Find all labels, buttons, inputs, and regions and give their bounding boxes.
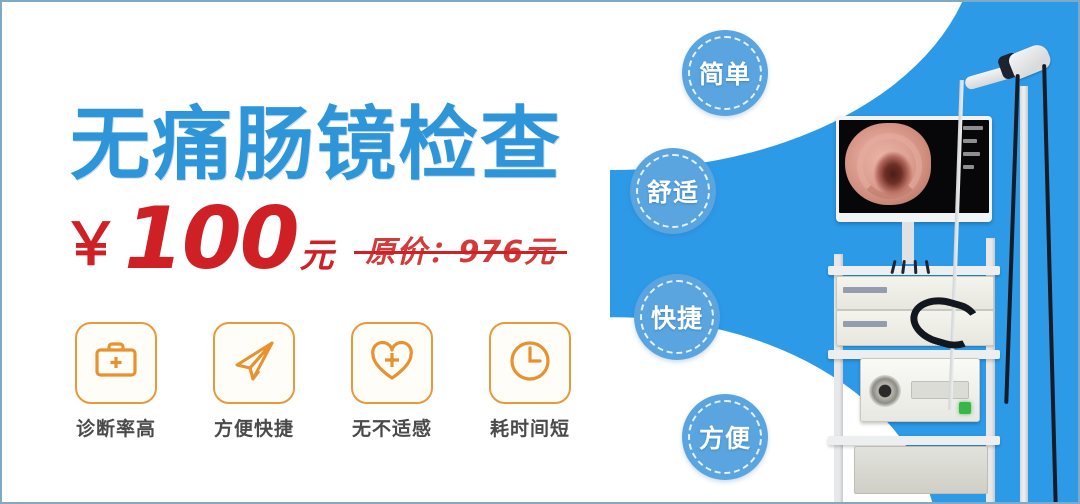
- feature-label: 耗时间短: [490, 414, 570, 441]
- badge-comfortable: 舒适: [630, 148, 716, 234]
- price-unit: 元: [300, 239, 334, 273]
- badge-label: 快捷: [651, 299, 703, 335]
- feature-label: 无不适感: [352, 414, 432, 441]
- unit-branding: [843, 321, 887, 327]
- feature-label: 诊断率高: [76, 414, 156, 441]
- badge-label: 简单: [699, 55, 751, 91]
- bottom-equipment-unit: [854, 446, 988, 494]
- badge-label: 舒适: [647, 173, 699, 209]
- paper-plane-icon: [230, 338, 278, 389]
- feature-icon-box: [213, 322, 295, 404]
- feature-icon-box: [351, 322, 433, 404]
- endoscope-cable-a: [1004, 74, 1020, 404]
- feature-icon-box: [489, 322, 571, 404]
- price-amount: 100: [124, 200, 298, 279]
- medical-kit-icon: [92, 339, 140, 388]
- monitor-stem: [902, 222, 914, 264]
- cart-shelf-bottom: [828, 436, 1000, 445]
- feature-list: 诊断率高 方便快捷: [68, 322, 578, 441]
- unit-branding: [843, 287, 887, 293]
- endoscopy-monitor: [836, 116, 992, 222]
- monitor-hud: [963, 126, 983, 169]
- original-price: 原价：976元: [366, 227, 556, 271]
- badge-simple: 简单: [682, 30, 768, 116]
- monitor-screen: [839, 120, 989, 213]
- feature-item-diagnosis: 诊断率高: [68, 322, 164, 441]
- strikethrough-line: [354, 251, 568, 254]
- page-title: 无痛肠镜检查: [70, 80, 562, 196]
- light-source-unit: [860, 358, 980, 422]
- badge-fast: 快捷: [634, 274, 720, 360]
- feature-icon-box: [75, 322, 157, 404]
- scope-hanger-post: [1020, 86, 1028, 504]
- light-source-port: [869, 375, 901, 407]
- price-block: ￥ 100 元 原价：976元: [62, 200, 555, 279]
- feature-item-convenient: 方便快捷: [206, 322, 302, 441]
- light-source-panel: [911, 381, 969, 399]
- feature-item-duration: 耗时间短: [482, 322, 578, 441]
- endoscopy-equipment: [814, 28, 1076, 504]
- badge-convenient: 方便: [682, 394, 768, 480]
- endoscope-cable-b: [1042, 64, 1058, 504]
- monitor-cable-bundle: [890, 260, 946, 274]
- colonoscopy-image: [845, 123, 931, 205]
- feature-label: 方便快捷: [214, 414, 294, 441]
- heart-plus-icon: [368, 339, 416, 388]
- currency-symbol: ￥: [62, 215, 120, 273]
- power-indicator: [959, 402, 971, 414]
- clock-icon: [506, 337, 554, 390]
- feature-item-comfort: 无不适感: [344, 322, 440, 441]
- promo-banner: 无痛肠镜检查 ￥ 100 元 原价：976元 诊断率高: [0, 0, 1080, 504]
- badge-label: 方便: [699, 419, 751, 455]
